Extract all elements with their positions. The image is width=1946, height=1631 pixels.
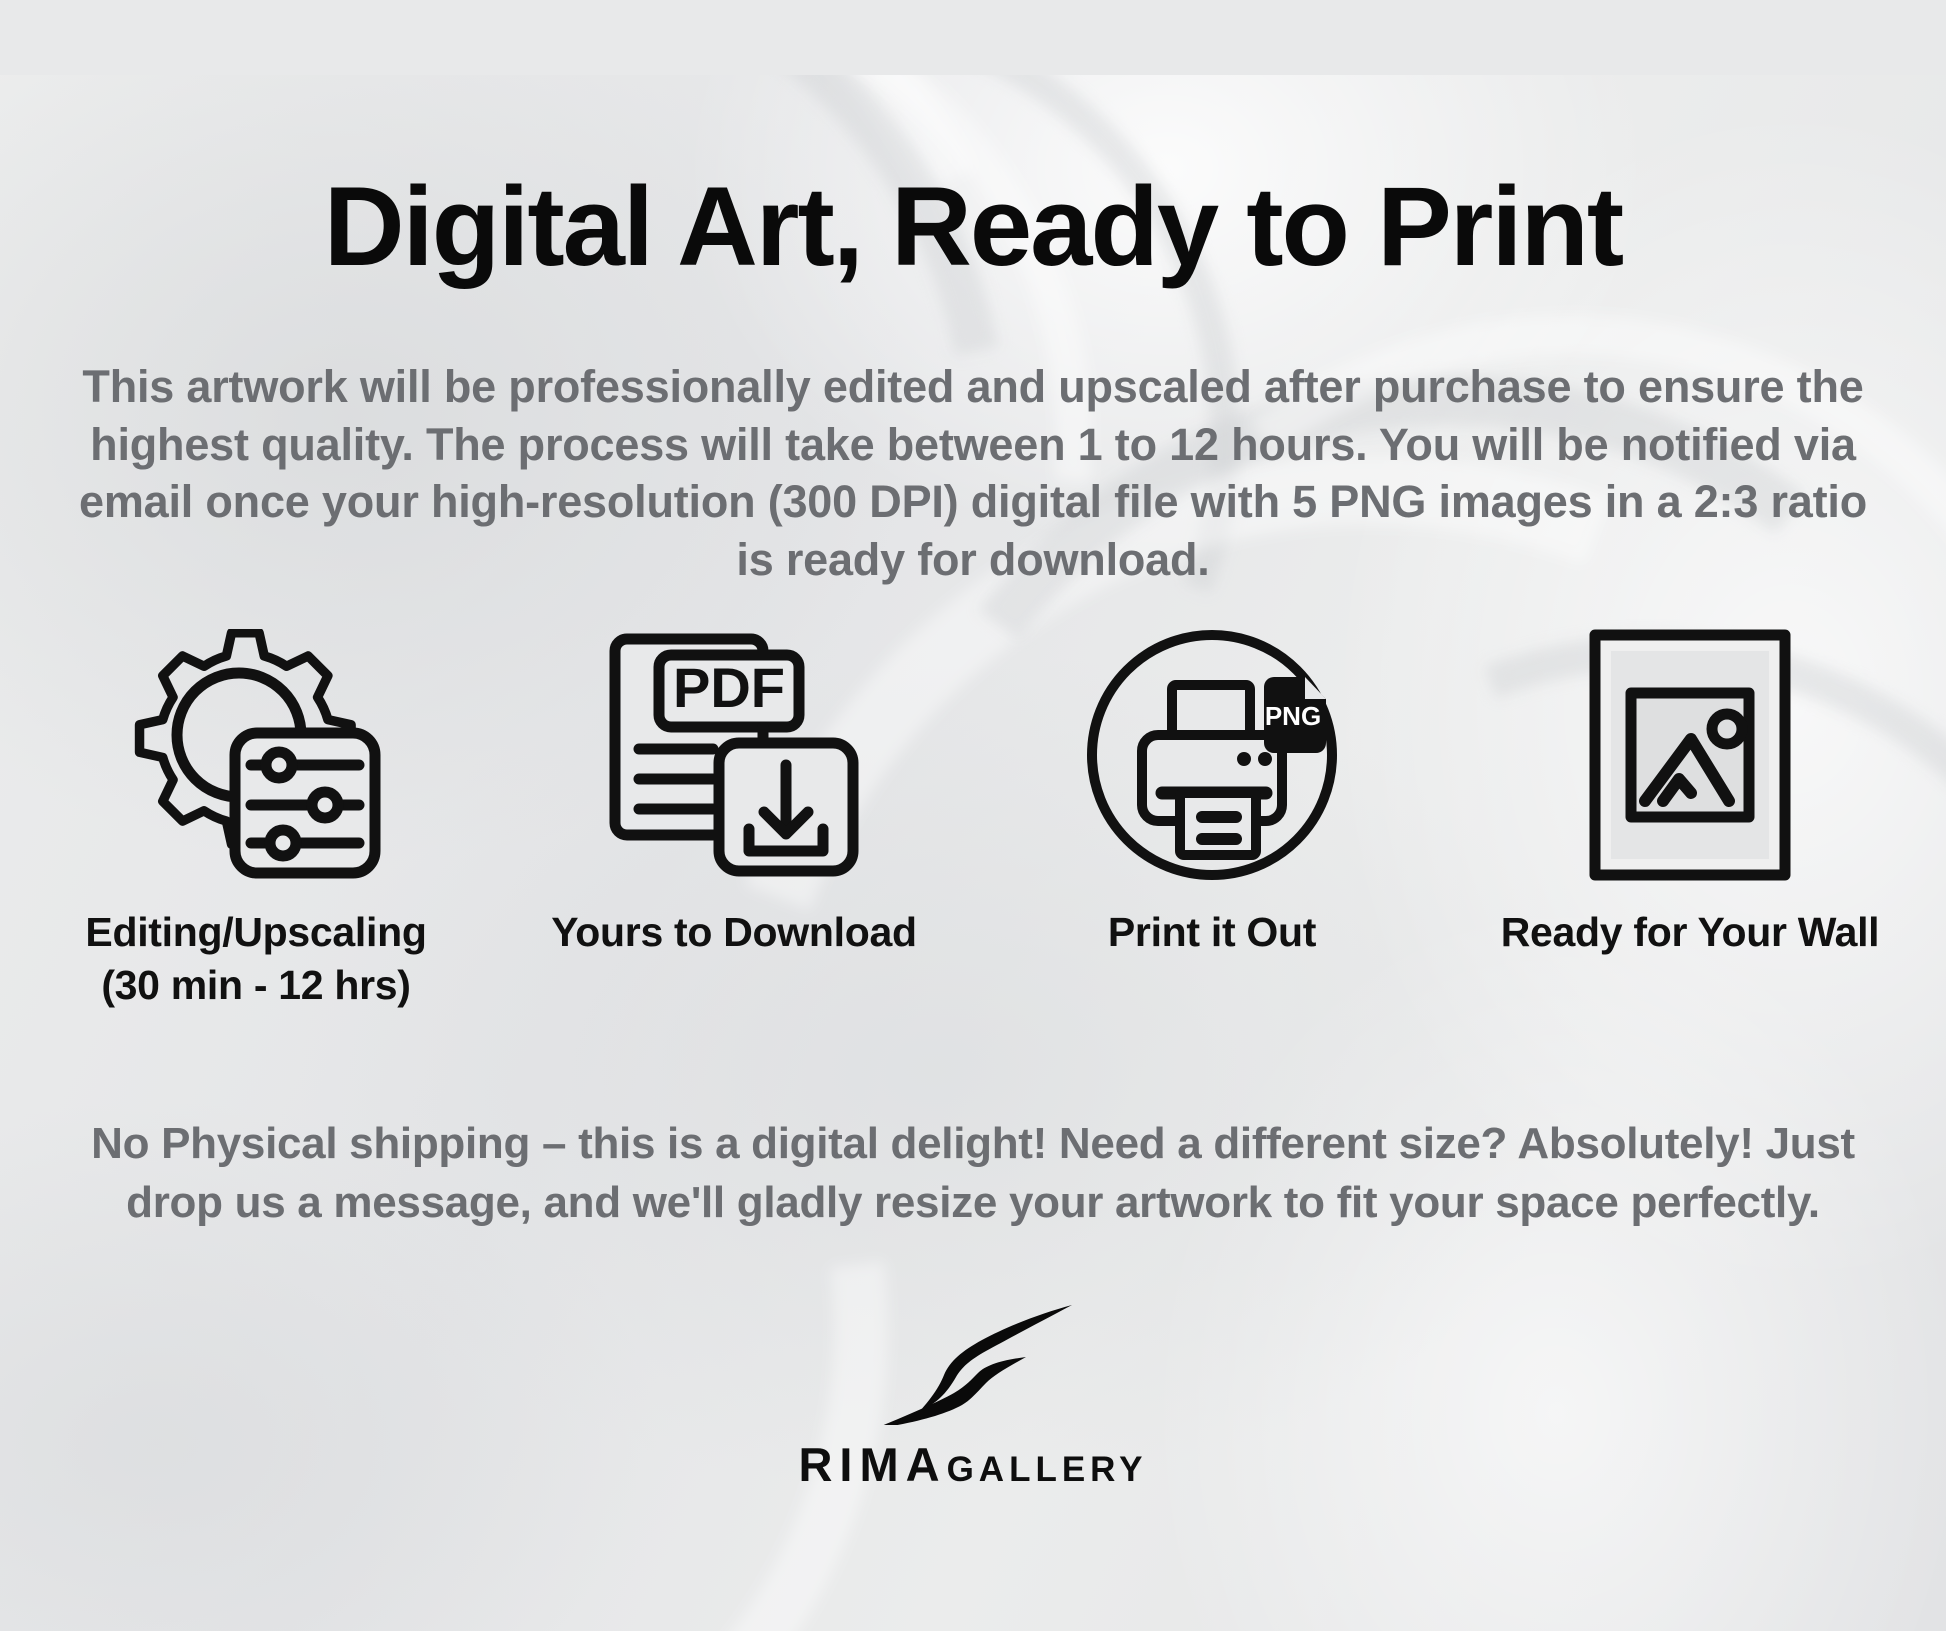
framed-picture-icon bbox=[1587, 624, 1793, 886]
gear-sliders-icon bbox=[127, 624, 385, 886]
rima-swoosh-logo bbox=[858, 1295, 1088, 1425]
feature-item-wall: Ready for Your Wall bbox=[1460, 624, 1920, 958]
feature-label: Yours to Download bbox=[551, 909, 916, 955]
feature-caption: Ready for Your Wall bbox=[1501, 906, 1880, 958]
feature-sublabel: (30 min - 12 hrs) bbox=[85, 959, 426, 1011]
brand-block: RIMA GALLERY bbox=[0, 1295, 1946, 1492]
pdf-download-icon: PDF bbox=[603, 624, 865, 886]
pdf-badge-text: PDF bbox=[673, 656, 785, 719]
brand-name-primary: RIMA bbox=[798, 1437, 946, 1492]
printer-circle-icon: PNG bbox=[1084, 624, 1340, 886]
feature-label: Ready for Your Wall bbox=[1501, 909, 1880, 955]
feature-caption: Print it Out bbox=[1108, 906, 1316, 958]
page-title: Digital Art, Ready to Print bbox=[0, 75, 1946, 283]
feature-item-download: PDF Yours to Download bbox=[504, 624, 964, 958]
feature-caption: Yours to Download bbox=[551, 906, 916, 958]
feature-label: Editing/Upscaling bbox=[85, 909, 426, 955]
feature-label: Print it Out bbox=[1108, 909, 1316, 955]
feature-caption: Editing/Upscaling (30 min - 12 hrs) bbox=[85, 906, 426, 1011]
intro-paragraph: This artwork will be professionally edit… bbox=[73, 358, 1873, 588]
shipping-note: No Physical shipping – this is a digital… bbox=[58, 1115, 1888, 1233]
png-badge-text: PNG bbox=[1265, 701, 1321, 731]
feature-row: Editing/Upscaling (30 min - 12 hrs) PDF bbox=[0, 624, 1946, 1011]
feature-item-print: PNG Print it Out bbox=[982, 624, 1442, 958]
brand-name-secondary: GALLERY bbox=[947, 1450, 1148, 1490]
feature-item-editing-upscaling: Editing/Upscaling (30 min - 12 hrs) bbox=[26, 624, 486, 1011]
brand-wordmark: RIMA GALLERY bbox=[798, 1437, 1147, 1492]
